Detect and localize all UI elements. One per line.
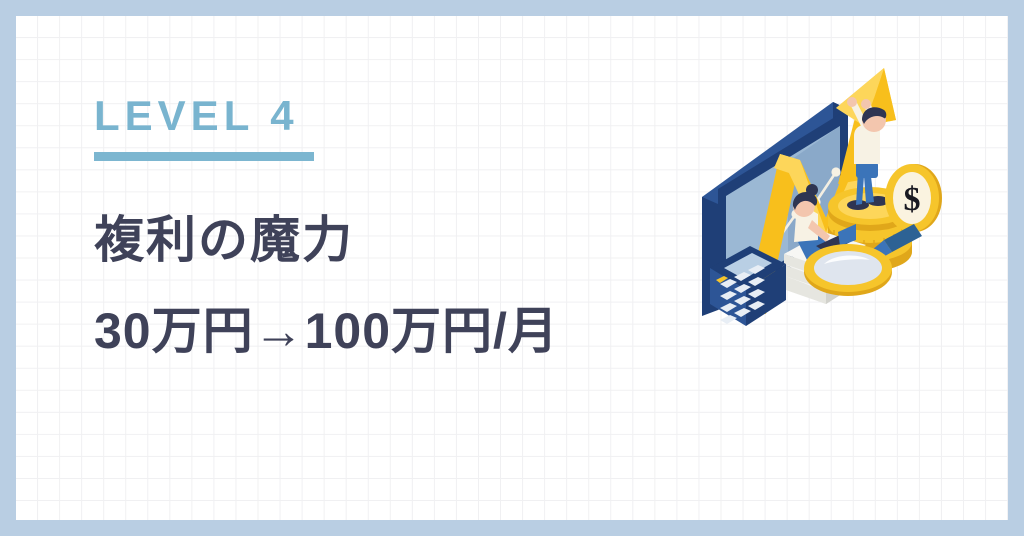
slide-canvas: LEVEL 4 複利の魔力 30万円→100万円/月	[0, 0, 1024, 536]
level-eyebrow-label: LEVEL 4	[94, 94, 694, 138]
headline-block: 複利の魔力 30万円→100万円/月	[94, 205, 694, 367]
dollar-symbol-text: $	[904, 181, 921, 218]
headline-line-2: 30万円→100万円/月	[94, 296, 694, 367]
headline-line-1: 複利の魔力	[94, 205, 694, 276]
text-content-block: LEVEL 4 複利の魔力 30万円→100万円/月	[94, 94, 694, 367]
isometric-financial-growth-illustration: $	[688, 64, 956, 332]
dollar-coin-icon: $	[885, 164, 942, 232]
level-underline-rule	[94, 152, 314, 161]
grid-paper-background: LEVEL 4 複利の魔力 30万円→100万円/月	[16, 16, 1008, 520]
